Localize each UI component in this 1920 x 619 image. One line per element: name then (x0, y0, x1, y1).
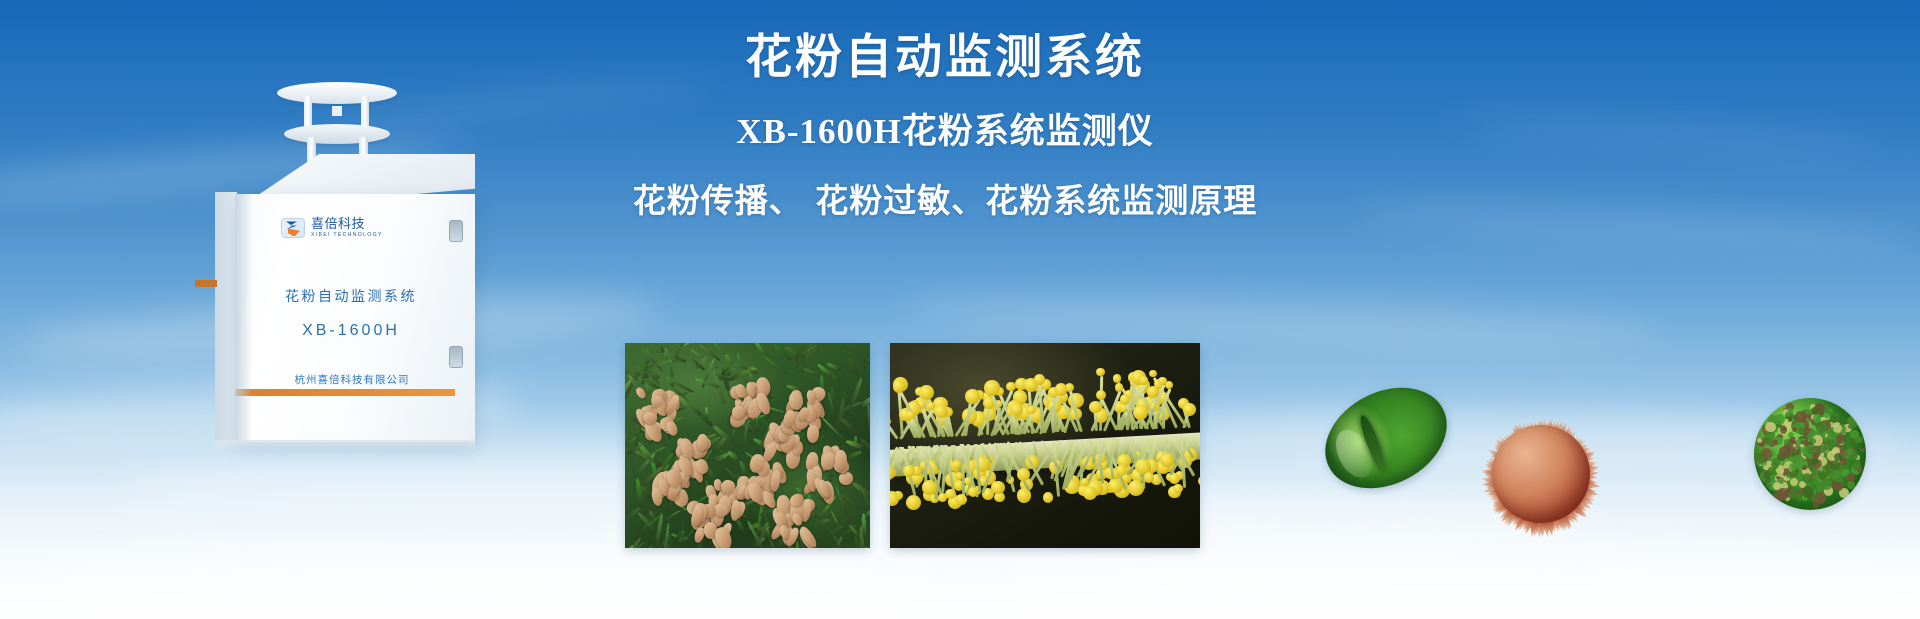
brand-name-cn: 喜倍科技 (311, 218, 383, 232)
device-product-label: 花粉自动监测系统 (235, 286, 467, 306)
model-subtitle: XB-1600H花粉系统监测仪 (600, 111, 1290, 153)
cloud-streak (1349, 195, 1910, 258)
cloud-streak (40, 540, 940, 619)
cabinet-accent-bar (235, 389, 455, 396)
inlet-lower-disc (284, 124, 390, 144)
cedar-pollen-cones-photo (625, 343, 870, 548)
brand-logo: 喜倍科技 XIBEI TECHNOLOGY (281, 218, 383, 239)
cabinet-side-panel (215, 192, 237, 440)
mossy-green-pollen-grain (1754, 398, 1866, 510)
cloud-streak (1450, 105, 1881, 161)
cloud-streak (1000, 548, 1920, 619)
brand-name-en: XIBEI TECHNOLOGY (311, 232, 383, 239)
air-inlet-head-icon (277, 82, 397, 160)
device-model-label: XB-1600H (235, 322, 467, 340)
cabinet-front-panel: 喜倍科技 XIBEI TECHNOLOGY 花粉自动监测系统 XB-1600H … (235, 194, 475, 442)
page-title: 花粉自动监测系统 (600, 30, 1290, 85)
xibei-logo-icon (281, 218, 305, 238)
spiky-red-pollen-grain (1482, 415, 1600, 533)
cabinet-latch[interactable] (449, 346, 463, 368)
pollen-core (1492, 425, 1590, 523)
cabinet-accent-bar-side (195, 280, 217, 287)
headline-block: 花粉自动监测系统 XB-1600H花粉系统监测仪 花粉传播、 花粉过敏、花粉系统… (600, 30, 1290, 221)
pollen-monitoring-banner: 花粉自动监测系统 XB-1600H花粉系统监测仪 花粉传播、 花粉过敏、花粉系统… (0, 0, 1920, 619)
inlet-top-disc (277, 82, 397, 104)
cabinet-latch[interactable] (449, 220, 463, 242)
topics-subtitle: 花粉传播、 花粉过敏、花粉系统监测原理 (600, 181, 1290, 221)
pollen-monitor-device: 喜倍科技 XIBEI TECHNOLOGY 花粉自动监测系统 XB-1600H … (215, 82, 475, 432)
green-oval-pollen-grain (1308, 368, 1464, 508)
willow-catkin-photo (890, 343, 1200, 548)
inlet-nozzle (332, 106, 342, 116)
device-company-cn: 杭州喜倍科技有限公司 (235, 372, 469, 387)
cabinet-base-shadow (215, 440, 475, 452)
